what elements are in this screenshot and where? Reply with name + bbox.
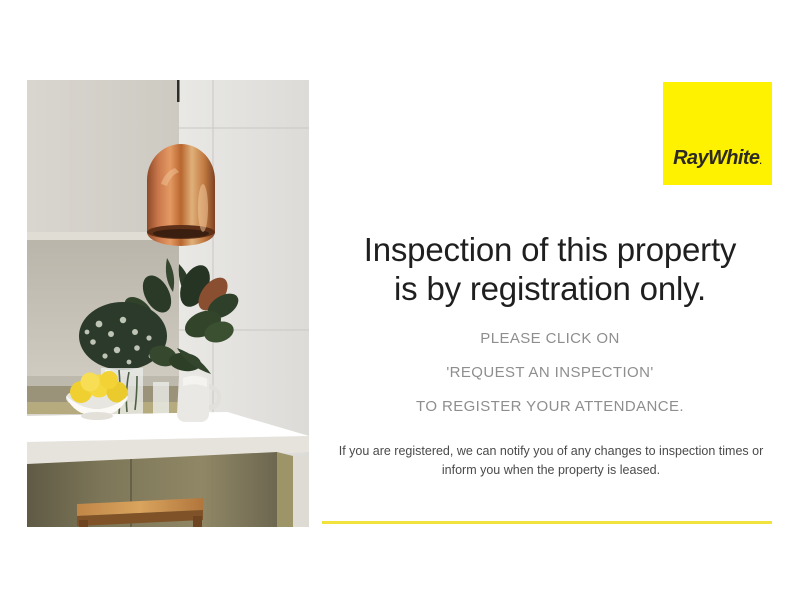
page-title: Inspection of this property is by regist… — [320, 230, 780, 308]
inspection-notice-slide: RayWhite. Inspection of this property is… — [0, 0, 800, 600]
yellow-divider — [322, 521, 772, 524]
page-title-line-1: Inspection of this property — [320, 230, 780, 269]
fineprint-line-2: inform you when the property is leased. — [326, 461, 776, 480]
fineprint-block: If you are registered, we can notify you… — [326, 442, 776, 480]
page-title-line-2: is by registration only. — [320, 269, 780, 308]
kitchen-photo-artwork — [27, 80, 309, 527]
fineprint-line-1: If you are registered, we can notify you… — [326, 442, 776, 461]
instructions-block: PLEASE CLICK ON 'REQUEST AN INSPECTION' … — [320, 322, 780, 424]
raywhite-logo-text: RayWhite — [673, 147, 759, 169]
notice-content-column: RayWhite. Inspection of this property is… — [320, 0, 780, 600]
raywhite-logo: RayWhite. — [663, 82, 772, 185]
instructions-line-2: 'REQUEST AN INSPECTION' — [320, 356, 780, 390]
instructions-line-3: TO REGISTER YOUR ATTENDANCE. — [320, 390, 780, 424]
raywhite-logo-wordmark: RayWhite. — [663, 148, 772, 168]
kitchen-interior-photo — [27, 80, 309, 527]
registered-mark-icon: . — [759, 156, 762, 166]
instructions-line-1: PLEASE CLICK ON — [320, 322, 780, 356]
